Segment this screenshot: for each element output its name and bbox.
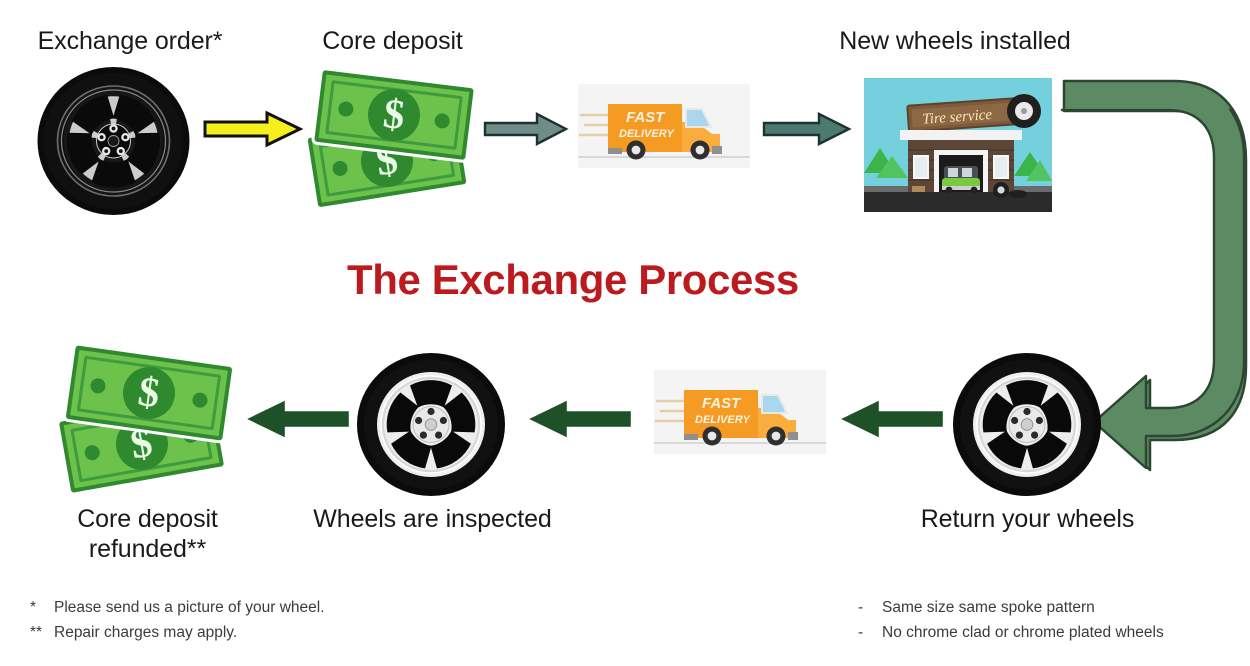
label-exchange-order: Exchange order* [10, 27, 250, 57]
footnote-text: No chrome clad or chrome plated wheels [882, 624, 1164, 641]
footnote-text: Same size same spoke pattern [882, 599, 1095, 616]
dollar-bills-icon-bottom: $ $ [56, 352, 241, 487]
label-wheels-are-inspected: Wheels are inspected [290, 505, 575, 535]
footnotes-right: -Same size same spoke pattern -No chrome… [858, 595, 1164, 645]
arrow-deposit-to-truck [483, 110, 569, 148]
dollar-bills-icon-top: $ $ [306, 76, 481, 206]
fast-delivery-truck-icon-bottom: FAST DELIVERY [654, 370, 826, 454]
footnote-marker: - [858, 595, 882, 620]
label-core-deposit-refunded: Core deposit refunded** [30, 505, 265, 564]
black-alloy-wheel-icon [36, 66, 191, 216]
footnote-marker: * [30, 595, 54, 620]
footnotes-left: *Please send us a picture of your wheel.… [30, 595, 325, 645]
svg-text:DELIVERY: DELIVERY [619, 128, 675, 140]
footnote-text: Repair charges may apply. [54, 624, 237, 641]
label-core-deposit-refunded-line1: Core deposit [77, 505, 218, 533]
tire-service-shop-icon: Tire service [864, 78, 1052, 212]
label-new-wheels-installed: New wheels installed [800, 27, 1110, 57]
footnote-left-1: *Please send us a picture of your wheel. [30, 595, 325, 620]
fast-delivery-truck-icon-top: FAST DELIVERY [578, 84, 750, 168]
arrow-order-to-deposit [203, 110, 303, 148]
footnote-marker: ** [30, 620, 54, 645]
footnote-text: Please send us a picture of your wheel. [54, 599, 325, 616]
silver-alloy-wheel-icon-inspected [356, 352, 506, 497]
arrow-truck2-to-inspect [528, 400, 632, 438]
arrow-truck-to-shop [762, 110, 852, 148]
svg-text:FAST: FAST [702, 395, 742, 412]
footnote-left-2: **Repair charges may apply. [30, 620, 325, 645]
footnote-right-2: -No chrome clad or chrome plated wheels [858, 620, 1164, 645]
arrow-inspect-to-refund [246, 400, 350, 438]
label-return-your-wheels: Return your wheels [890, 505, 1165, 535]
footnote-marker: - [858, 620, 882, 645]
label-core-deposit-refunded-line2: refunded** [89, 535, 206, 563]
arrow-return-to-truck2 [840, 400, 944, 438]
label-core-deposit: Core deposit [285, 27, 500, 57]
svg-text:DELIVERY: DELIVERY [695, 414, 751, 426]
exchange-process-diagram: Exchange order* Core deposit New wheels … [0, 0, 1250, 666]
svg-text:FAST: FAST [626, 109, 666, 126]
silver-alloy-wheel-icon-return [952, 352, 1102, 497]
footnote-right-1: -Same size same spoke pattern [858, 595, 1164, 620]
page-title: The Exchange Process [347, 256, 799, 304]
